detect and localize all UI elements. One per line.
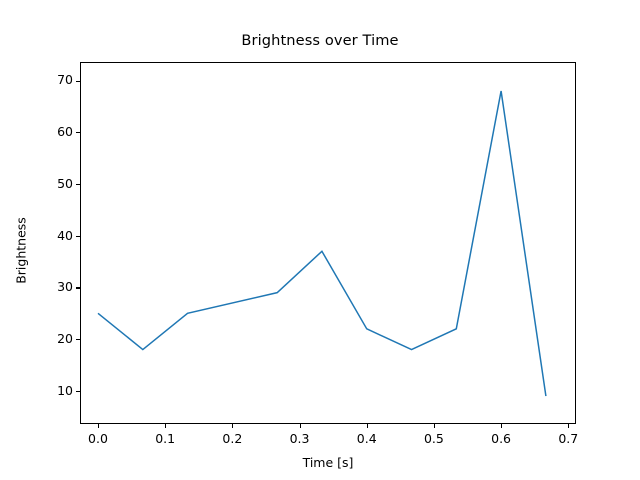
y-tick-label: 50 [57,178,73,191]
y-axis-tick-labels: 10203040506070 [0,0,73,480]
x-tick-label: 0.5 [404,433,464,446]
y-tick-label: 70 [57,74,73,87]
chart-title: Brightness over Time [0,32,640,49]
x-tick-label: 0.1 [135,433,195,446]
y-tick-label: 40 [57,230,73,243]
y-tick-label: 20 [57,333,73,346]
chart-figure: Brightness over Time Brightness 10203040… [0,0,640,480]
x-tick-mark [300,424,301,428]
x-axis-label: Time [s] [80,455,576,470]
x-tick-label: 0.0 [68,433,128,446]
x-tick-mark [568,424,569,428]
x-tick-label: 0.4 [337,433,397,446]
x-tick-mark [367,424,368,428]
x-tick-label: 0.7 [538,433,598,446]
brightness-line-series [98,91,546,396]
x-tick-mark [165,424,166,428]
x-tick-mark [501,424,502,428]
x-tick-label: 0.6 [471,433,531,446]
y-tick-label: 10 [57,385,73,398]
y-tick-label: 60 [57,126,73,139]
x-tick-label: 0.3 [270,433,330,446]
y-tick-label: 30 [57,281,73,294]
x-tick-mark [98,424,99,428]
x-tick-mark [434,424,435,428]
x-tick-label: 0.2 [202,433,262,446]
x-tick-mark [232,424,233,428]
plot-data-area [80,62,576,424]
